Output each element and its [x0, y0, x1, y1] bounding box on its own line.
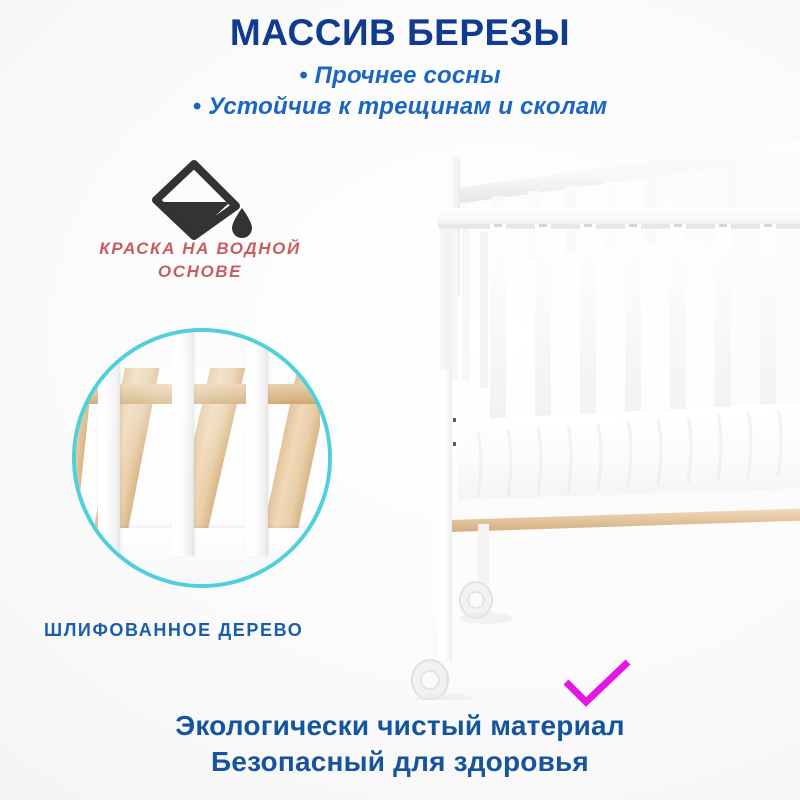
check-mark-icon — [560, 658, 634, 708]
footer-line-2: Безопасный для здоровья — [211, 746, 589, 777]
crib-illustration — [400, 120, 800, 700]
paint-label-line-1: КРАСКА НА ВОДНОЙ — [99, 239, 301, 258]
crib-adjust-hole — [453, 418, 456, 422]
paint-bucket-icon — [150, 160, 260, 240]
paint-feature-label: КРАСКА НА ВОДНОЙ ОСНОВЕ — [40, 238, 360, 284]
crib-adjust-hole — [453, 442, 456, 446]
paint-bucket-icon-wrap — [135, 160, 275, 240]
bullet-line-2: • Устойчив к трещинам и сколам — [0, 93, 800, 121]
page-title: МАССИВ БЕРЕЗЫ — [0, 14, 800, 53]
product-photo-crib — [400, 120, 800, 700]
crib-side-rail — [440, 212, 488, 388]
detail-circle-closeup — [72, 328, 332, 588]
footer-text: Экологически чистый материал Безопасный … — [0, 708, 800, 780]
bullet-line-1: • Прочнее сосны — [0, 62, 800, 90]
white-vertical-slat — [98, 332, 120, 556]
infographic-canvas: МАССИВ БЕРЕЗЫ • Прочнее сосны • Устойчив… — [0, 0, 800, 800]
paint-label-line-2: ОСНОВЕ — [158, 262, 242, 281]
detail-circle-caption: ШЛИФОВАННОЕ ДЕРЕВО — [44, 620, 303, 641]
check-mark-glyph — [560, 658, 634, 708]
white-vertical-slat — [246, 332, 268, 556]
detail-circle-content — [76, 332, 328, 584]
footer-line-1: Экологически чистый материал — [175, 710, 625, 741]
white-vertical-slat — [320, 332, 328, 556]
white-vertical-slat — [172, 332, 194, 556]
